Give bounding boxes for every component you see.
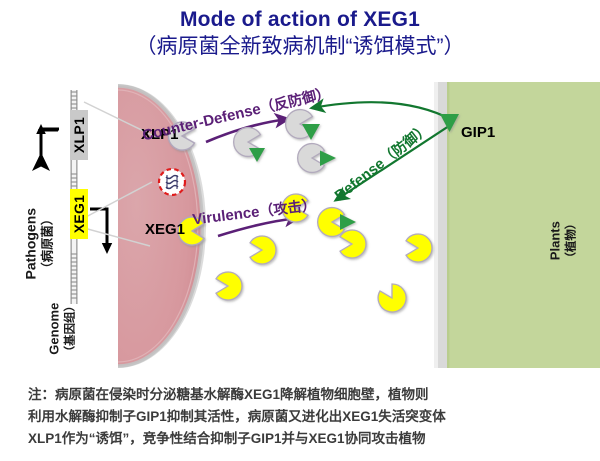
caption-line-3: XLP1作为“诱饵”，竞争性结合抑制子GIP1并与XEG1协同攻击植物 bbox=[28, 428, 580, 450]
complex-xlp1-gip1-2 bbox=[286, 110, 320, 140]
arrow-defense-upper bbox=[312, 102, 452, 120]
caption-line-2: 利用水解酶抑制子GIP1抑制其活性，病原菌又进化出XEG1失活突变体 bbox=[28, 406, 580, 428]
label-genome: Genome （基因组） bbox=[47, 274, 76, 384]
label-plants-en: Plants bbox=[547, 221, 562, 260]
label-plants: Plants （植物） bbox=[548, 181, 577, 301]
diagram-canvas: Pathogens （病原菌） Plants （植物） Genome （基因组）… bbox=[0, 78, 600, 380]
molecule-label-xeg1: XEG1 bbox=[145, 221, 185, 238]
complex-xlp1-gip1-3 bbox=[298, 144, 336, 173]
page-title-chinese: （病原菌全新致病机制“诱饵模式”） bbox=[0, 33, 600, 61]
molecule-xeg1-free-5 bbox=[216, 272, 242, 300]
molecule-label-gip1: GIP1 bbox=[461, 124, 495, 141]
diagram-svg bbox=[0, 78, 600, 380]
transcription-arrow-xlp1 bbox=[36, 124, 59, 156]
transcription-arrow-xeg1 bbox=[90, 209, 112, 254]
molecule-xeg1-free-6 bbox=[378, 284, 406, 312]
molecule-xeg1-free-4 bbox=[406, 234, 432, 262]
mutation-marker bbox=[159, 169, 185, 195]
molecule-xeg1-free-2 bbox=[250, 236, 276, 264]
figure-caption: 注：病原菌在侵染时分泌糖基水解酶XEG1降解植物细胞壁，植物则 利用水解酶抑制子… bbox=[28, 384, 580, 450]
label-pathogens-en: Pathogens bbox=[22, 208, 38, 280]
label-pathogens-cn: （病原菌） bbox=[40, 213, 54, 275]
gene-box-xlp1: XLP1 bbox=[70, 110, 88, 160]
complex-xlp1-gip1-1 bbox=[234, 128, 265, 162]
label-genome-en: Genome bbox=[46, 303, 61, 355]
gene-box-xeg1: XEG1 bbox=[70, 189, 88, 239]
molecule-xeg1-free-3 bbox=[340, 230, 366, 258]
title-block: Mode of action of XEG1 （病原菌全新致病机制“诱饵模式”） bbox=[0, 8, 600, 61]
label-genome-cn: （基因组） bbox=[64, 300, 76, 357]
page-title-english: Mode of action of XEG1 bbox=[0, 8, 600, 32]
label-plants-cn: （植物） bbox=[565, 218, 577, 264]
caption-line-1: 注：病原菌在侵染时分泌糖基水解酶XEG1降解植物细胞壁，植物则 bbox=[28, 384, 580, 406]
